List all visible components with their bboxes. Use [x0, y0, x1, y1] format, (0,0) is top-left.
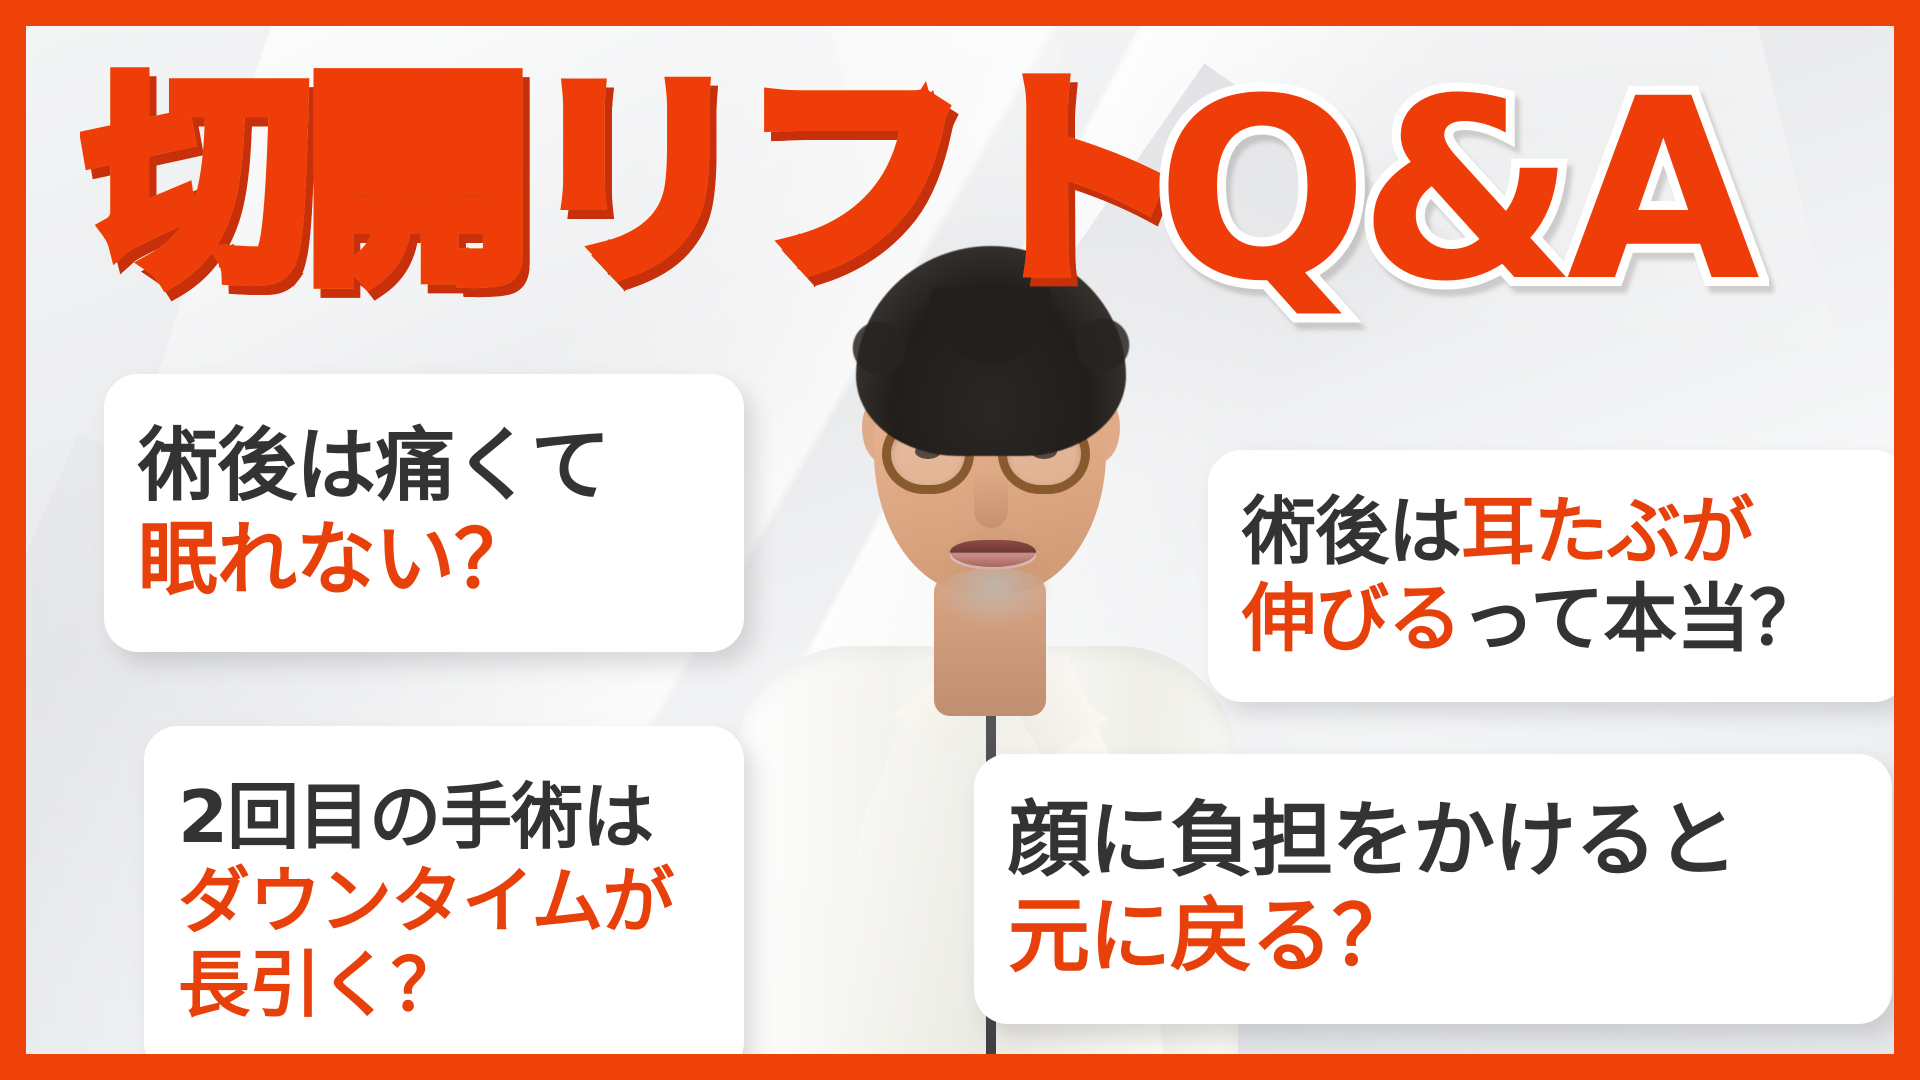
question-card-earlobe-stretch[interactable]: 術後は耳たぶが伸びるって本当？ [1208, 450, 1894, 702]
accent-text-run: ダウンタイムが [178, 859, 674, 943]
accent-text-run: 元に戻る？ [1008, 889, 1413, 984]
question-line: 2回目の手術は [178, 775, 710, 859]
accent-text-run: 耳たぶが [1461, 489, 1753, 575]
qa-title: Q&A [1156, 66, 1750, 316]
question-line: 術後は耳たぶが [1242, 489, 1874, 576]
mouth-shape [950, 540, 1036, 570]
heading-group: 切開リフト Q&A [26, 44, 1894, 334]
accent-text-run: 伸びる [1242, 576, 1461, 662]
thumbnail-canvas: 切開リフト Q&A 術後は痛くて眠れない？ 2回目の手術はダウンタイムが長引く？… [0, 0, 1920, 1080]
plain-text-run: 2回目の手術は [178, 775, 653, 859]
question-line: 顔に負担をかけると [1008, 793, 1858, 889]
question-line: 眠れない？ [138, 513, 710, 607]
question-card-second-surgery-downtime[interactable]: 2回目の手術はダウンタイムが長引く？ [144, 726, 744, 1054]
question-line: 長引く？ [178, 943, 710, 1027]
main-title: 切開リフト [86, 70, 1181, 295]
plain-text-run: 顔に負担をかけると [1008, 793, 1737, 888]
question-line: ダウンタイムが [178, 859, 710, 943]
accent-text-run: 長引く？ [178, 943, 462, 1027]
question-card-post-op-pain[interactable]: 術後は痛くて眠れない？ [104, 374, 744, 652]
plain-text-run: 術後は痛くて [138, 419, 610, 512]
accent-text-run: 眠れない？ [138, 513, 533, 606]
beard-shape [932, 568, 1056, 630]
question-line: 伸びるって本当？ [1242, 576, 1874, 663]
question-line: 元に戻る？ [1008, 889, 1858, 985]
nose-shape [974, 472, 1008, 528]
plain-text-run: 術後は [1242, 489, 1461, 575]
question-card-face-strain-relapse[interactable]: 顔に負担をかけると元に戻る？ [974, 754, 1892, 1024]
question-line: 術後は痛くて [138, 419, 710, 513]
plain-text-run: って本当？ [1461, 576, 1822, 662]
content-panel: 切開リフト Q&A 術後は痛くて眠れない？ 2回目の手術はダウンタイムが長引く？… [26, 26, 1894, 1054]
